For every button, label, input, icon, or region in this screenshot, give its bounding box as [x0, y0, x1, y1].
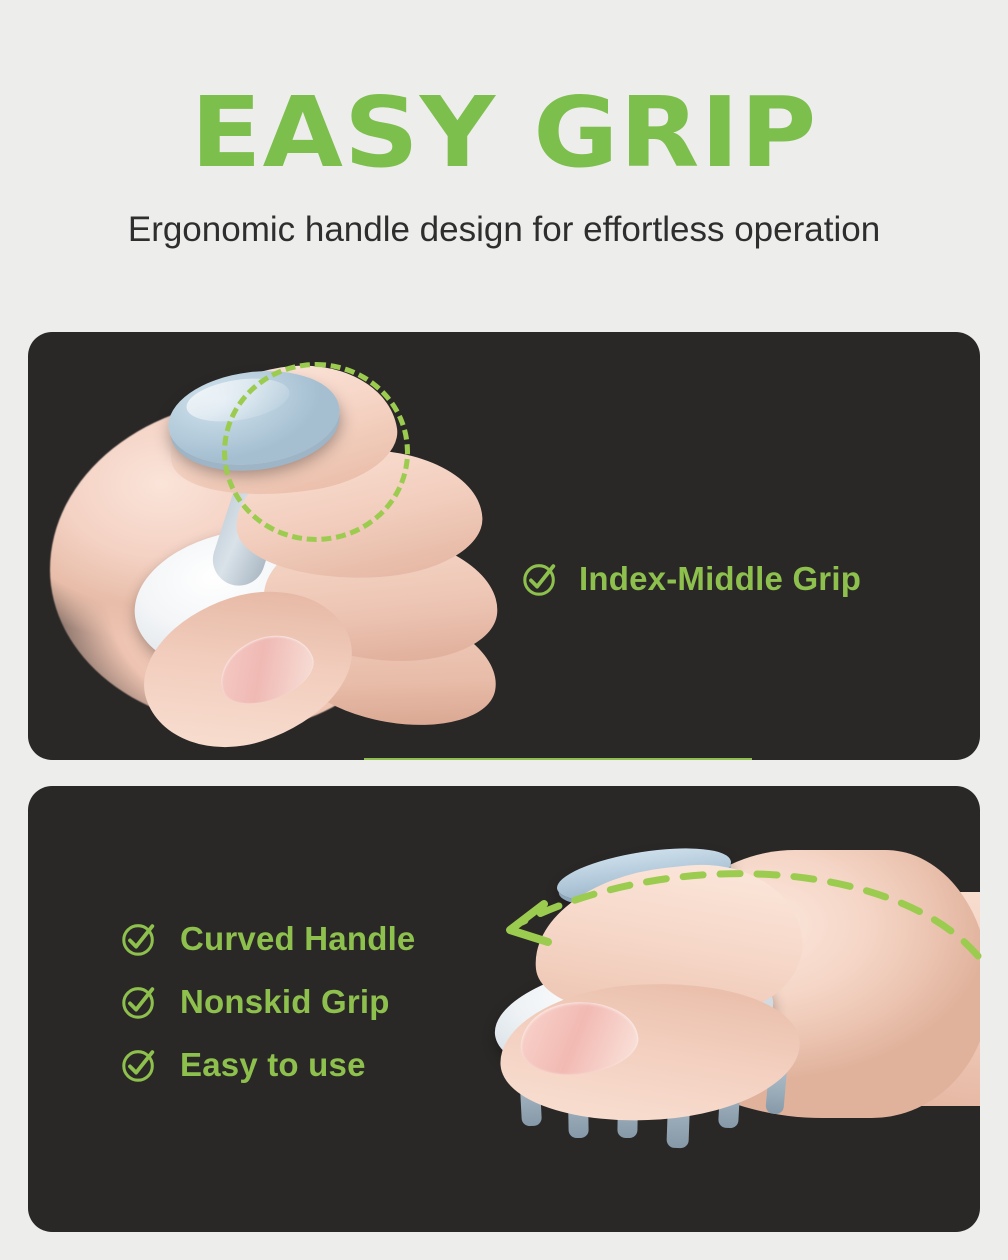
callout-label: Index-Middle Grip — [579, 560, 861, 598]
feature-item-easy-to-use: Easy to use — [120, 1046, 416, 1084]
feature-item-nonskid-grip: Nonskid Grip — [120, 983, 416, 1021]
feature-label: Easy to use — [180, 1046, 366, 1084]
check-circle-icon — [120, 983, 158, 1021]
check-circle-icon — [120, 920, 158, 958]
panel-index-middle-grip — [28, 332, 980, 760]
feature-label: Nonskid Grip — [180, 983, 390, 1021]
hand-illustration — [50, 346, 480, 756]
feature-item-curved-handle: Curved Handle — [120, 920, 416, 958]
page-subtitle: Ergonomic handle design for effortless o… — [0, 208, 1008, 252]
dashed-ellipse-annotation — [222, 362, 410, 542]
check-circle-icon — [521, 560, 559, 598]
feature-list: Curved Handle Nonskid Grip Easy to use — [120, 920, 416, 1084]
callout-index-middle-grip: Index-Middle Grip — [521, 560, 861, 598]
leader-line-horizontal — [364, 758, 752, 760]
check-circle-icon — [120, 1046, 158, 1084]
dashed-curved-arrow-annotation — [470, 846, 990, 956]
product-photo-top-grip — [28, 332, 980, 760]
leader-line-vertical — [749, 758, 752, 760]
infographic-page: EASY GRIP Ergonomic handle design for ef… — [0, 0, 1008, 1260]
page-title: EASY GRIP — [0, 84, 1008, 181]
feature-label: Curved Handle — [180, 920, 416, 958]
